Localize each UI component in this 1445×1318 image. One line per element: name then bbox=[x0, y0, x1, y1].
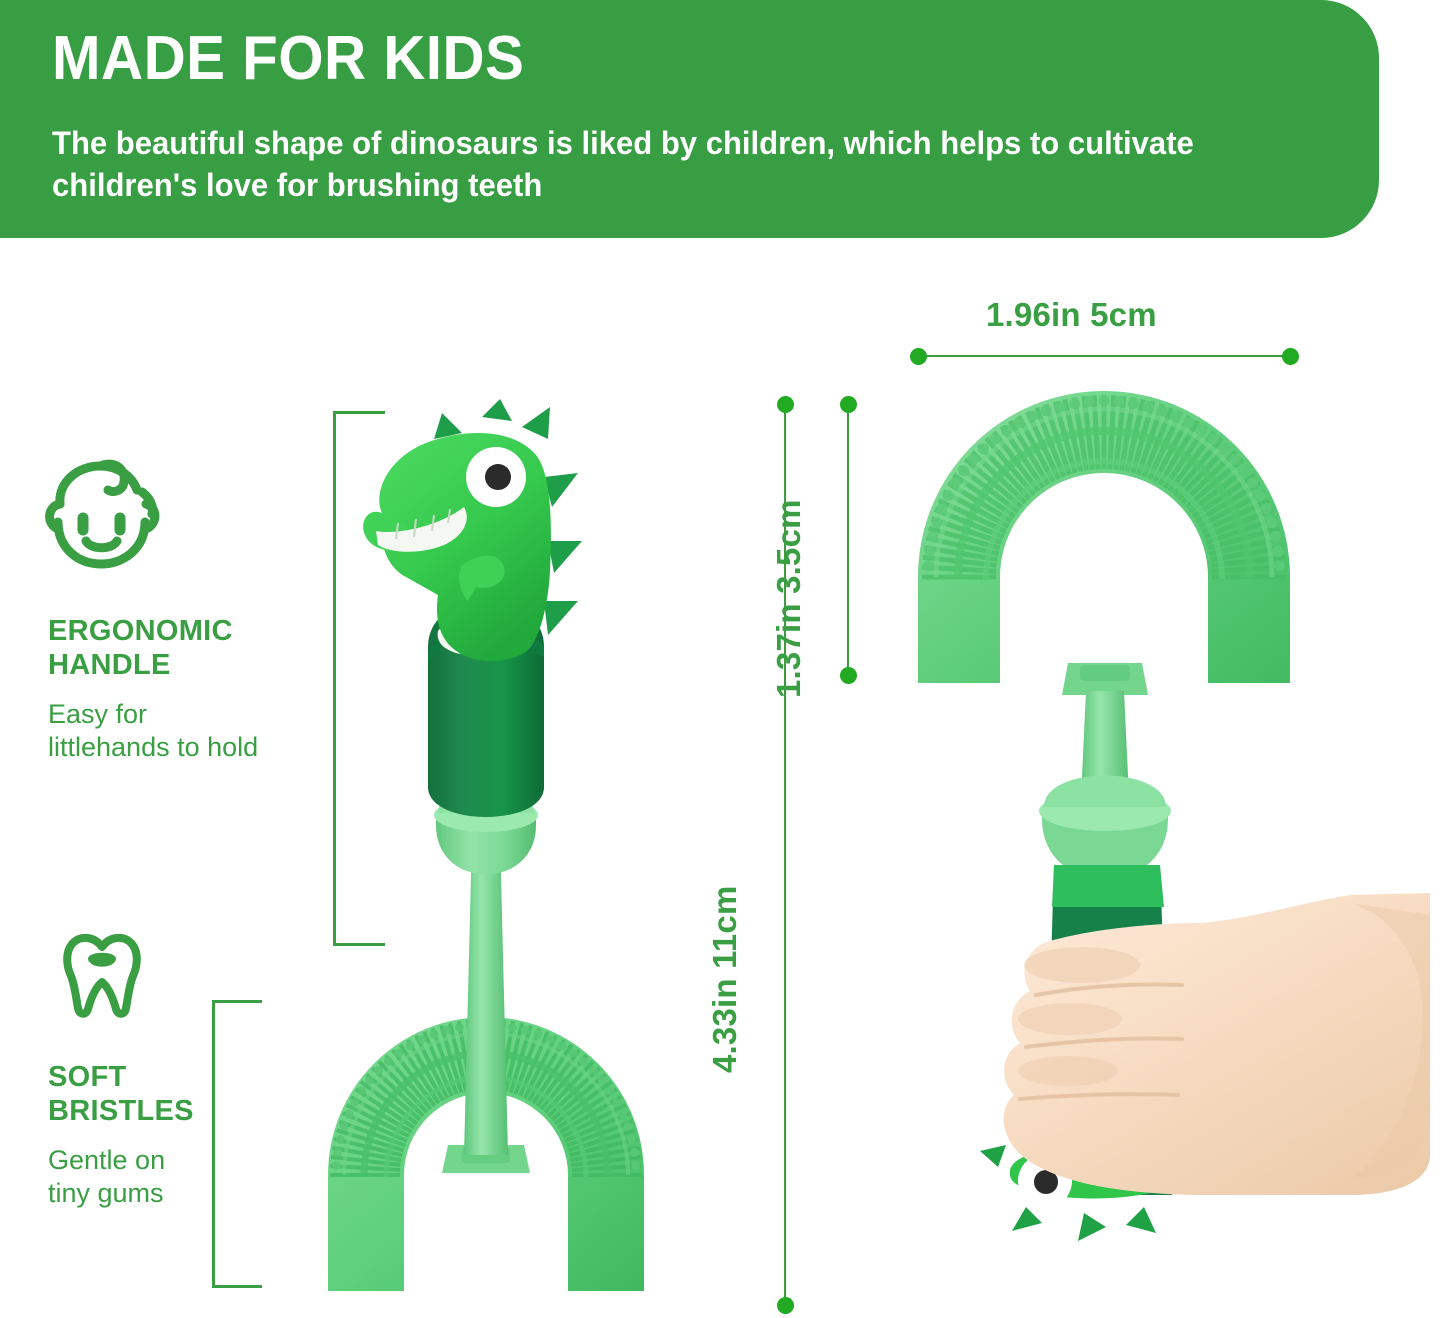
dimension-endpoint-dot bbox=[777, 396, 794, 413]
product-image-toothbrush-in-hand bbox=[830, 395, 1430, 1315]
feature-title: ERGONOMIC HANDLE bbox=[48, 614, 326, 682]
banner-title: MADE FOR KIDS bbox=[52, 28, 524, 90]
u-shaped-brush-head-closeup bbox=[918, 391, 1290, 695]
bracket-bristles-callout bbox=[212, 1000, 262, 1288]
feature-description: Easy for littlehands to hold bbox=[48, 698, 326, 764]
dimension-endpoint-dot bbox=[1282, 348, 1299, 365]
child-hand bbox=[1004, 893, 1430, 1195]
banner-subtitle: The beautiful shape of dinosaurs is like… bbox=[52, 122, 1245, 206]
dimension-label-width: 1.96in 5cm bbox=[986, 296, 1157, 334]
dimension-line-width bbox=[918, 355, 1290, 357]
dinosaur-figure bbox=[363, 399, 582, 661]
dimension-endpoint-dot bbox=[777, 1297, 794, 1314]
product-image-toothbrush-full bbox=[286, 395, 726, 1310]
feature-ergonomic-handle: ERGONOMIC HANDLE Easy for littlehands to… bbox=[26, 452, 326, 764]
dimension-label-head-height: 1.37in 3.5cm bbox=[770, 499, 808, 698]
baby-face-icon bbox=[38, 452, 326, 570]
dimension-endpoint-dot bbox=[910, 348, 927, 365]
header-banner: MADE FOR KIDS The beautiful shape of din… bbox=[0, 0, 1379, 238]
